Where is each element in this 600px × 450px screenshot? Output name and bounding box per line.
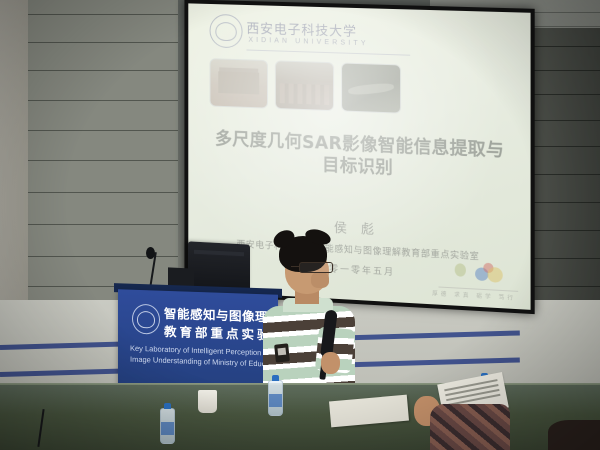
- slide-title: 多尺度几何SAR影像智能信息提取与 目标识别: [204, 128, 516, 186]
- eyeglasses-icon: [299, 262, 333, 273]
- campus-building-photo: [210, 58, 268, 108]
- water-bottle: [268, 380, 283, 416]
- water-bottle: [160, 408, 175, 444]
- podium: 智能感知与图像理解 教育部重点实验室 Key Laboratory of Int…: [118, 289, 278, 395]
- paper-cup: [198, 390, 217, 413]
- group-ceremony-photo: [275, 60, 334, 111]
- left-plaster-wall: [0, 0, 30, 330]
- slide-sphere-logo: [455, 261, 508, 286]
- slide-thumbnail-row: [210, 58, 402, 114]
- attendee-body: [430, 404, 510, 450]
- foreground-table: [0, 385, 600, 450]
- speaker-badge: [274, 343, 290, 362]
- speaker-hand: [321, 352, 340, 374]
- podium-microphone-head: [146, 247, 155, 259]
- lecture-hall-photo: 西安电子科技大学 XIDIAN UNIVERSITY 多尺度几何SAR影像智能信…: [0, 0, 600, 450]
- xidian-crest-icon: [210, 14, 243, 49]
- foreground-shadow: [548, 420, 600, 450]
- aerial-landscape-photo: [341, 62, 401, 113]
- slide-header-rule: [246, 49, 410, 55]
- lab-crest-icon: [132, 304, 160, 335]
